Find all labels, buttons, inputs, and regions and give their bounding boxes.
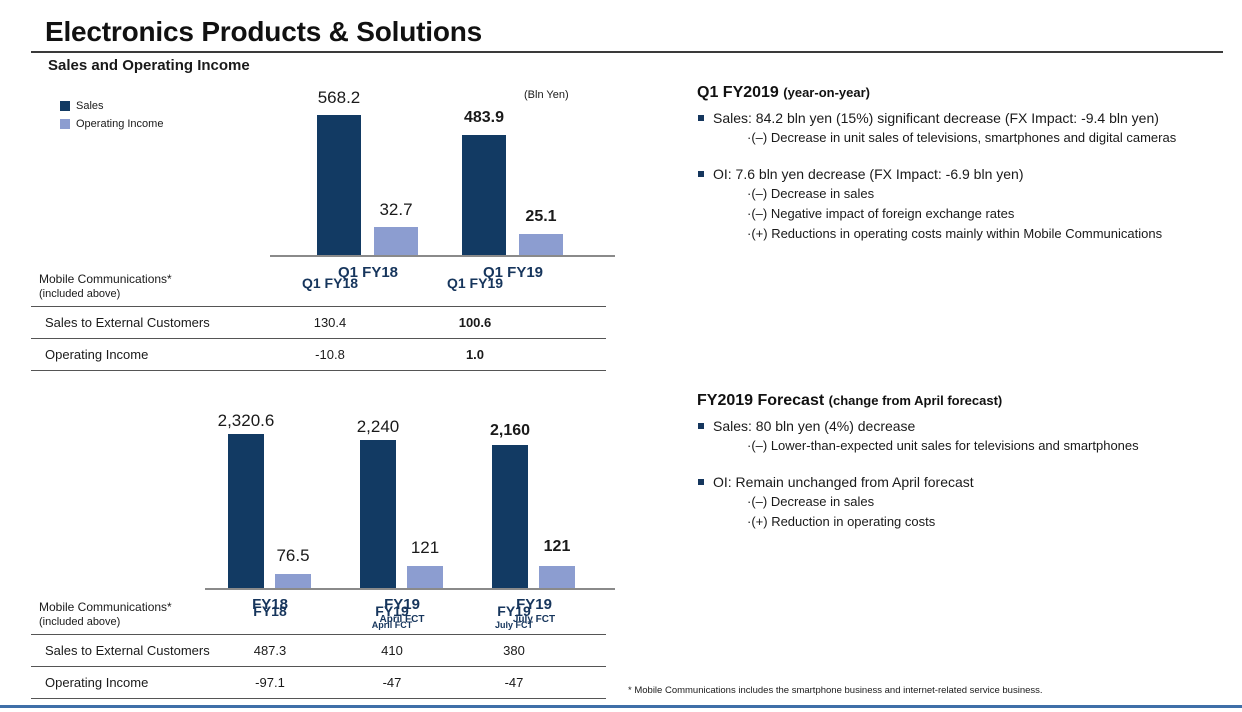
table-quarterly-head-subtitle: (included above)	[39, 288, 120, 300]
table-fullyear-rule-top	[31, 634, 606, 635]
table-quarterly-col-head-1: Q1 FY19	[415, 275, 535, 291]
table-mobile-communications-quarterly: Mobile Communications* (included above) …	[31, 272, 606, 372]
commentary-forecast-bullet-0-text: Sales: 80 bln yen (4%) decrease	[713, 418, 915, 434]
table-quarterly-rule-top	[31, 306, 606, 307]
table-quarterly-cell-0-0: 130.4	[270, 315, 390, 330]
table-fullyear-head-subtitle: (included above)	[39, 616, 120, 628]
bar-value-operating-income-fy19-july: 121	[507, 538, 607, 556]
bar-value-operating-income-fy19-april: 121	[375, 538, 475, 558]
bar-operating-income-fy18	[275, 574, 311, 588]
commentary-q1-sub-0-0: ·(–) Decrease in unit sales of televisio…	[697, 128, 1242, 148]
commentary-q1-spacer	[697, 148, 1242, 162]
table-fullyear-col-subhead-1: April FCT	[342, 620, 442, 630]
bar-sales-q1fy19	[462, 135, 506, 255]
table-quarterly-cell-0-1: 100.6	[415, 315, 535, 330]
table-quarterly-head-title: Mobile Communications*	[39, 272, 172, 286]
legend-item-operating-income: Operating Income	[60, 116, 163, 131]
commentary-q1-sub-1-2: ·(+) Reductions in operating costs mainl…	[697, 224, 1242, 244]
commentary-forecast-bullet-1-text: OI: Remain unchanged from April forecast	[713, 474, 974, 490]
table-fullyear-rule-bottom	[31, 698, 606, 699]
table-quarterly-rule-bottom	[31, 370, 606, 371]
table-fullyear-col-head-2: FY19	[464, 603, 564, 619]
bar-sales-fy19-july	[492, 445, 528, 588]
chart-fullyear: 2,320.6 76.5 2,240 121 2,160 121 FY18 FY…	[205, 434, 615, 588]
table-quarterly-col-head-0: Q1 FY18	[270, 275, 390, 291]
commentary-forecast-title-main: FY2019 Forecast	[697, 392, 824, 409]
table-fullyear-rule-mid	[31, 666, 606, 667]
commentary-q1-title-paren: (year-on-year)	[783, 85, 870, 100]
commentary-q1-sub-1-1: ·(–) Negative impact of foreign exchange…	[697, 204, 1242, 224]
table-fullyear-cell-0-0: 487.3	[220, 643, 320, 658]
commentary-q1-bullet-1: OI: 7.6 bln yen decrease (FX Impact: -6.…	[697, 164, 1242, 184]
bar-value-operating-income-q1fy18: 32.7	[346, 200, 446, 220]
bullet-square-icon	[698, 423, 704, 429]
legend-swatch-sales-icon	[60, 101, 70, 111]
commentary-forecast-bullet-1: OI: Remain unchanged from April forecast	[697, 472, 1242, 492]
commentary-forecast-bullet-0: Sales: 80 bln yen (4%) decrease	[697, 416, 1242, 436]
bottom-accent-rule	[0, 705, 1242, 708]
chart-fullyear-baseline	[205, 588, 615, 590]
chart-quarterly-baseline	[270, 255, 615, 257]
commentary-q1-bullet-0: Sales: 84.2 bln yen (15%) significant de…	[697, 108, 1242, 128]
table-quarterly-row-label-0: Sales to External Customers	[45, 315, 210, 330]
table-fullyear-row-label-0: Sales to External Customers	[45, 643, 210, 658]
table-fullyear-cell-0-2: 380	[464, 643, 564, 658]
bar-sales-q1fy18	[317, 115, 361, 255]
commentary-q1-sub-1-0: ·(–) Decrease in sales	[697, 184, 1242, 204]
table-fullyear-cell-1-0: -97.1	[220, 675, 320, 690]
commentary-q1-fy2019: Q1 FY2019 (year-on-year) Sales: 84.2 bln…	[697, 84, 1242, 244]
table-mobile-communications-fullyear: Mobile Communications* (included above) …	[31, 600, 606, 700]
commentary-q1-title: Q1 FY2019 (year-on-year)	[697, 84, 1242, 102]
bar-value-operating-income-q1fy19: 25.1	[491, 208, 591, 226]
table-quarterly-cell-1-0: -10.8	[270, 347, 390, 362]
commentary-forecast-sub-0-0: ·(–) Lower-than-expected unit sales for …	[697, 436, 1242, 456]
legend-item-sales: Sales	[60, 98, 163, 113]
table-fullyear-col-subhead-2: July FCT	[464, 620, 564, 630]
legend-label-operating-income: Operating Income	[76, 118, 163, 130]
bullet-square-icon	[698, 115, 704, 121]
bar-value-sales-q1fy19: 483.9	[434, 109, 534, 127]
table-quarterly-head: Mobile Communications* (included above)	[39, 272, 172, 301]
table-fullyear-cell-0-1: 410	[342, 643, 442, 658]
table-fullyear-cell-1-1: -47	[342, 675, 442, 690]
section-subtitle: Sales and Operating Income	[48, 57, 250, 74]
chart-quarterly: 568.2 32.7 483.9 25.1 Q1 FY18 Q1 FY19	[270, 100, 615, 255]
bar-value-operating-income-fy18: 76.5	[243, 546, 343, 566]
bar-value-sales-fy19-april: 2,240	[328, 417, 428, 437]
table-fullyear-col-head-0: FY18	[220, 603, 320, 619]
bar-operating-income-fy19-july	[539, 566, 575, 588]
bar-operating-income-q1fy18	[374, 227, 418, 255]
bar-value-sales-fy19-july: 2,160	[460, 422, 560, 440]
bar-operating-income-q1fy19	[519, 234, 563, 255]
chart-legend: Sales Operating Income	[60, 98, 163, 134]
bullet-square-icon	[698, 171, 704, 177]
commentary-q1-title-main: Q1 FY2019	[697, 84, 779, 101]
table-quarterly-row-label-1: Operating Income	[45, 347, 148, 362]
table-fullyear-head-title: Mobile Communications*	[39, 600, 172, 614]
legend-swatch-operating-income-icon	[60, 119, 70, 129]
table-quarterly-rule-mid	[31, 338, 606, 339]
bar-sales-fy19-april	[360, 440, 396, 588]
table-fullyear-head: Mobile Communications* (included above)	[39, 600, 172, 629]
commentary-forecast-title-paren: (change from April forecast)	[829, 393, 1003, 408]
bar-value-sales-fy18: 2,320.6	[196, 411, 296, 431]
commentary-forecast-sub-1-0: ·(–) Decrease in sales	[697, 492, 1242, 512]
legend-label-sales: Sales	[76, 100, 104, 112]
commentary-forecast-sub-1-1: ·(+) Reduction in operating costs	[697, 512, 1242, 532]
table-quarterly-cell-1-1: 1.0	[415, 347, 535, 362]
page-title: Electronics Products & Solutions	[45, 16, 482, 48]
table-fullyear-cell-1-2: -47	[464, 675, 564, 690]
commentary-fy2019-forecast: FY2019 Forecast (change from April forec…	[697, 392, 1242, 532]
commentary-forecast-spacer	[697, 456, 1242, 470]
table-fullyear-row-label-1: Operating Income	[45, 675, 148, 690]
table-fullyear-col-head-1: FY19	[342, 603, 442, 619]
bullet-square-icon	[698, 479, 704, 485]
slide-canvas: Electronics Products & Solutions Sales a…	[0, 0, 1242, 712]
bar-operating-income-fy19-april	[407, 566, 443, 588]
commentary-q1-bullet-1-text: OI: 7.6 bln yen decrease (FX Impact: -6.…	[713, 166, 1023, 182]
bar-value-sales-q1fy18: 568.2	[289, 88, 389, 108]
title-divider	[31, 51, 1223, 53]
commentary-forecast-title: FY2019 Forecast (change from April forec…	[697, 392, 1242, 410]
commentary-q1-bullet-0-text: Sales: 84.2 bln yen (15%) significant de…	[713, 110, 1159, 126]
footnote: * Mobile Communications includes the sma…	[628, 685, 1043, 696]
